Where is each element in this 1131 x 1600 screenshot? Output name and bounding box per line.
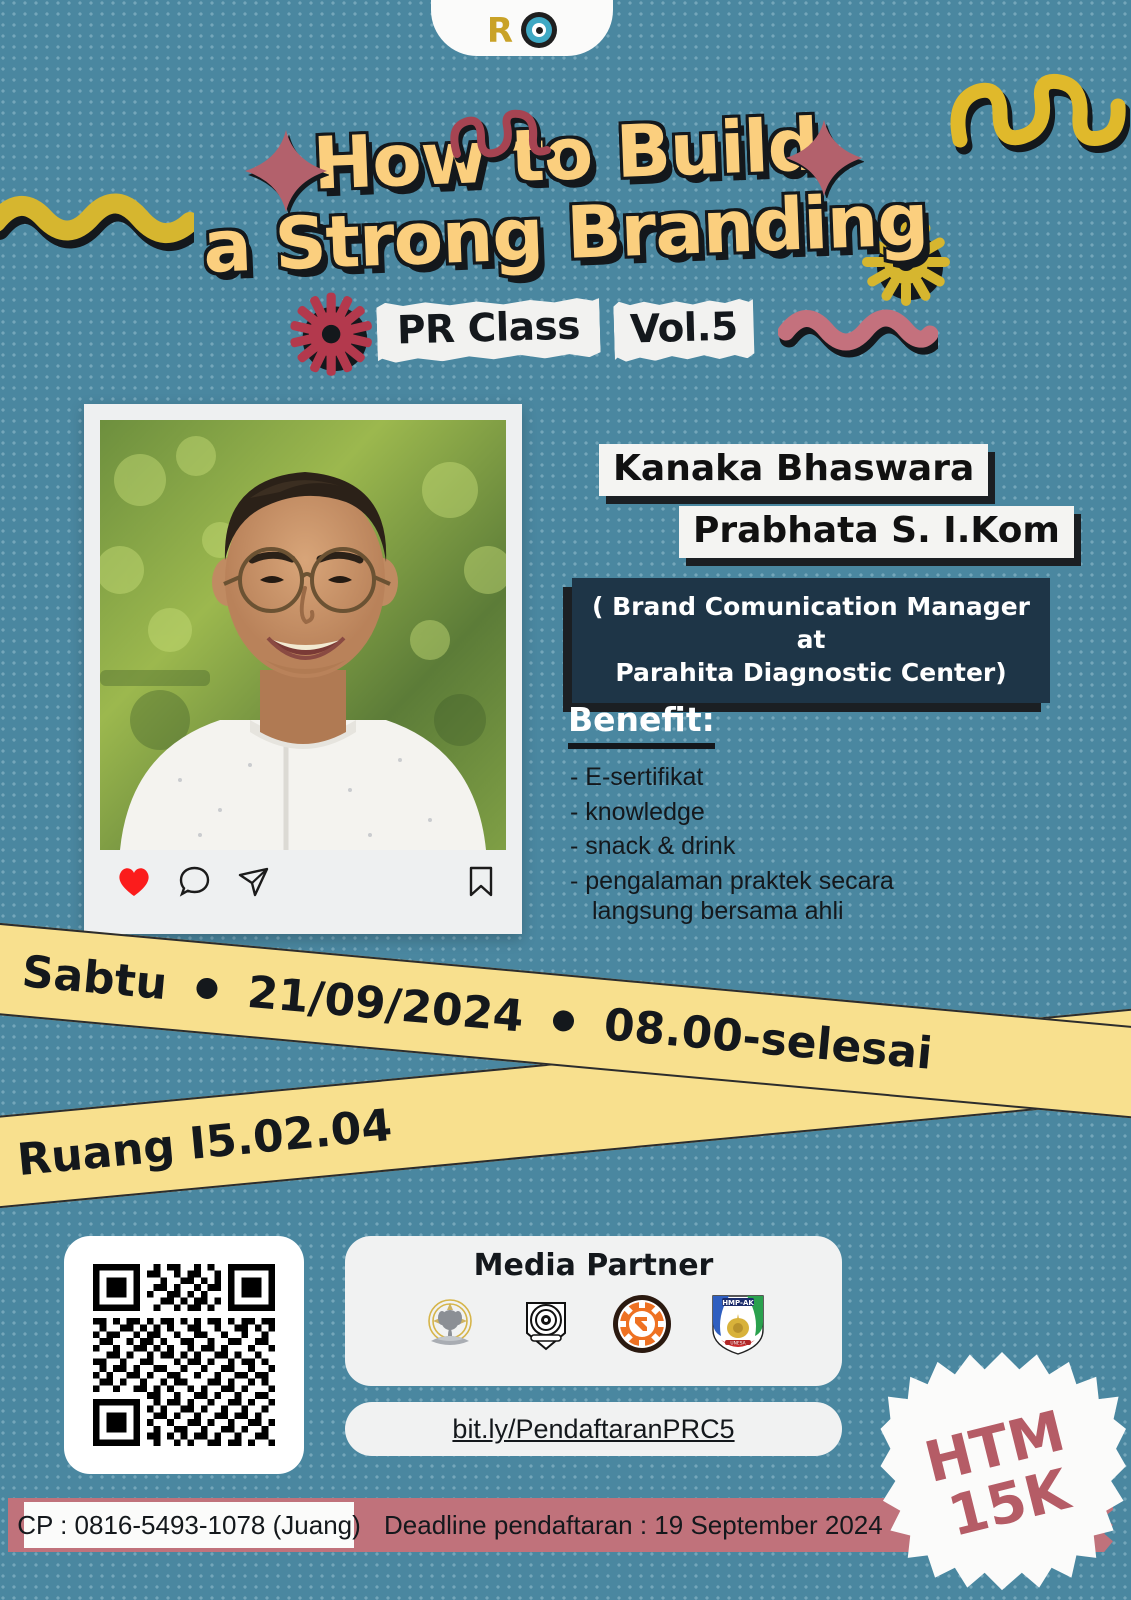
- circle-camera-logo: [521, 12, 557, 48]
- benefit-item: - knowledge: [570, 797, 894, 828]
- heart-icon[interactable]: [116, 865, 152, 898]
- poster-title: How to Build a Strong Branding: [0, 118, 1131, 271]
- instagram-action-row: [116, 865, 494, 898]
- qr-code-card[interactable]: [64, 1236, 304, 1474]
- speaker-role-line-1: ( Brand Comunication Manager at: [582, 590, 1040, 656]
- speaker-role-line-2: Parahita Diagnostic Center): [582, 656, 1040, 689]
- pr-class-label-row: PR Class Vol.5: [0, 300, 1131, 360]
- r-logo: R: [487, 14, 511, 48]
- ganesha-lotus-logo: [417, 1291, 483, 1357]
- speaker-role: ( Brand Comunication Manager at Parahita…: [572, 578, 1050, 703]
- brand-logo-tab: R: [431, 0, 613, 56]
- media-partner-heading: Media Partner: [474, 1248, 714, 1283]
- poster-canvas: R: [0, 0, 1131, 1600]
- room-text: Ruang I5.02.04: [15, 1099, 394, 1185]
- svg-text:UNESA: UNESA: [730, 1340, 745, 1346]
- benefit-item: - E-sertifikat: [570, 762, 894, 793]
- registration-qr-code: [86, 1257, 282, 1453]
- benefit-heading: Benefit:: [568, 700, 715, 749]
- comment-icon[interactable]: [178, 865, 211, 898]
- separator-dot-icon: [552, 1009, 575, 1032]
- volume-label: Vol.5: [613, 298, 754, 362]
- speaker-name-line-1: Kanaka Bhaswara: [599, 444, 988, 496]
- hmp-ak-unesa-shield-logo: HMP-AK UNESA: [705, 1291, 771, 1357]
- time-text: 08.00-selesai: [602, 999, 935, 1080]
- share-icon[interactable]: [237, 865, 270, 898]
- contact-text: CP : 0816-5493-1078 (Juang): [17, 1510, 361, 1541]
- benefit-item-continuation: langsung bersama ahli: [570, 896, 894, 927]
- benefit-item-text: - E-sertifikat: [570, 763, 703, 791]
- date-text: 21/09/2024: [245, 966, 526, 1042]
- day-text: Sabtu: [20, 946, 169, 1010]
- pr-class-label: PR Class: [376, 297, 601, 363]
- registration-link-card[interactable]: bit.ly/PendaftaranPRC5: [345, 1402, 842, 1456]
- orange-gear-logo: [609, 1291, 675, 1357]
- media-partner-logos: HMP-AK UNESA: [417, 1291, 771, 1357]
- benefit-list: - E-sertifikat - knowledge - snack & dri…: [570, 762, 894, 931]
- svg-text:HMP-AK: HMP-AK: [722, 1299, 754, 1307]
- speaker-photo-card: [84, 404, 522, 934]
- benefit-item: - snack & drink: [570, 831, 894, 862]
- deadline-text: Deadline pendaftaran : 19 September 2024: [384, 1510, 883, 1541]
- separator-dot-icon: [196, 977, 219, 1000]
- benefit-item: - pengalaman praktek secara langsung ber…: [570, 866, 894, 927]
- benefit-item-text: - pengalaman praktek secara: [570, 867, 894, 895]
- target-emblem-logo: [513, 1291, 579, 1357]
- benefit-item-text: - knowledge: [570, 798, 705, 826]
- media-partner-card: Media Partner: [345, 1236, 842, 1386]
- benefit-item-text: - snack & drink: [570, 832, 735, 860]
- speaker-name-line-2: Prabhata S. I.Kom: [679, 506, 1074, 558]
- price-badge: HTM 15K: [878, 1352, 1126, 1600]
- registration-link-text[interactable]: bit.ly/PendaftaranPRC5: [452, 1414, 734, 1445]
- speaker-portrait: [100, 420, 506, 850]
- bookmark-icon[interactable]: [468, 865, 494, 898]
- contact-bar: CP : 0816-5493-1078 (Juang): [24, 1502, 354, 1548]
